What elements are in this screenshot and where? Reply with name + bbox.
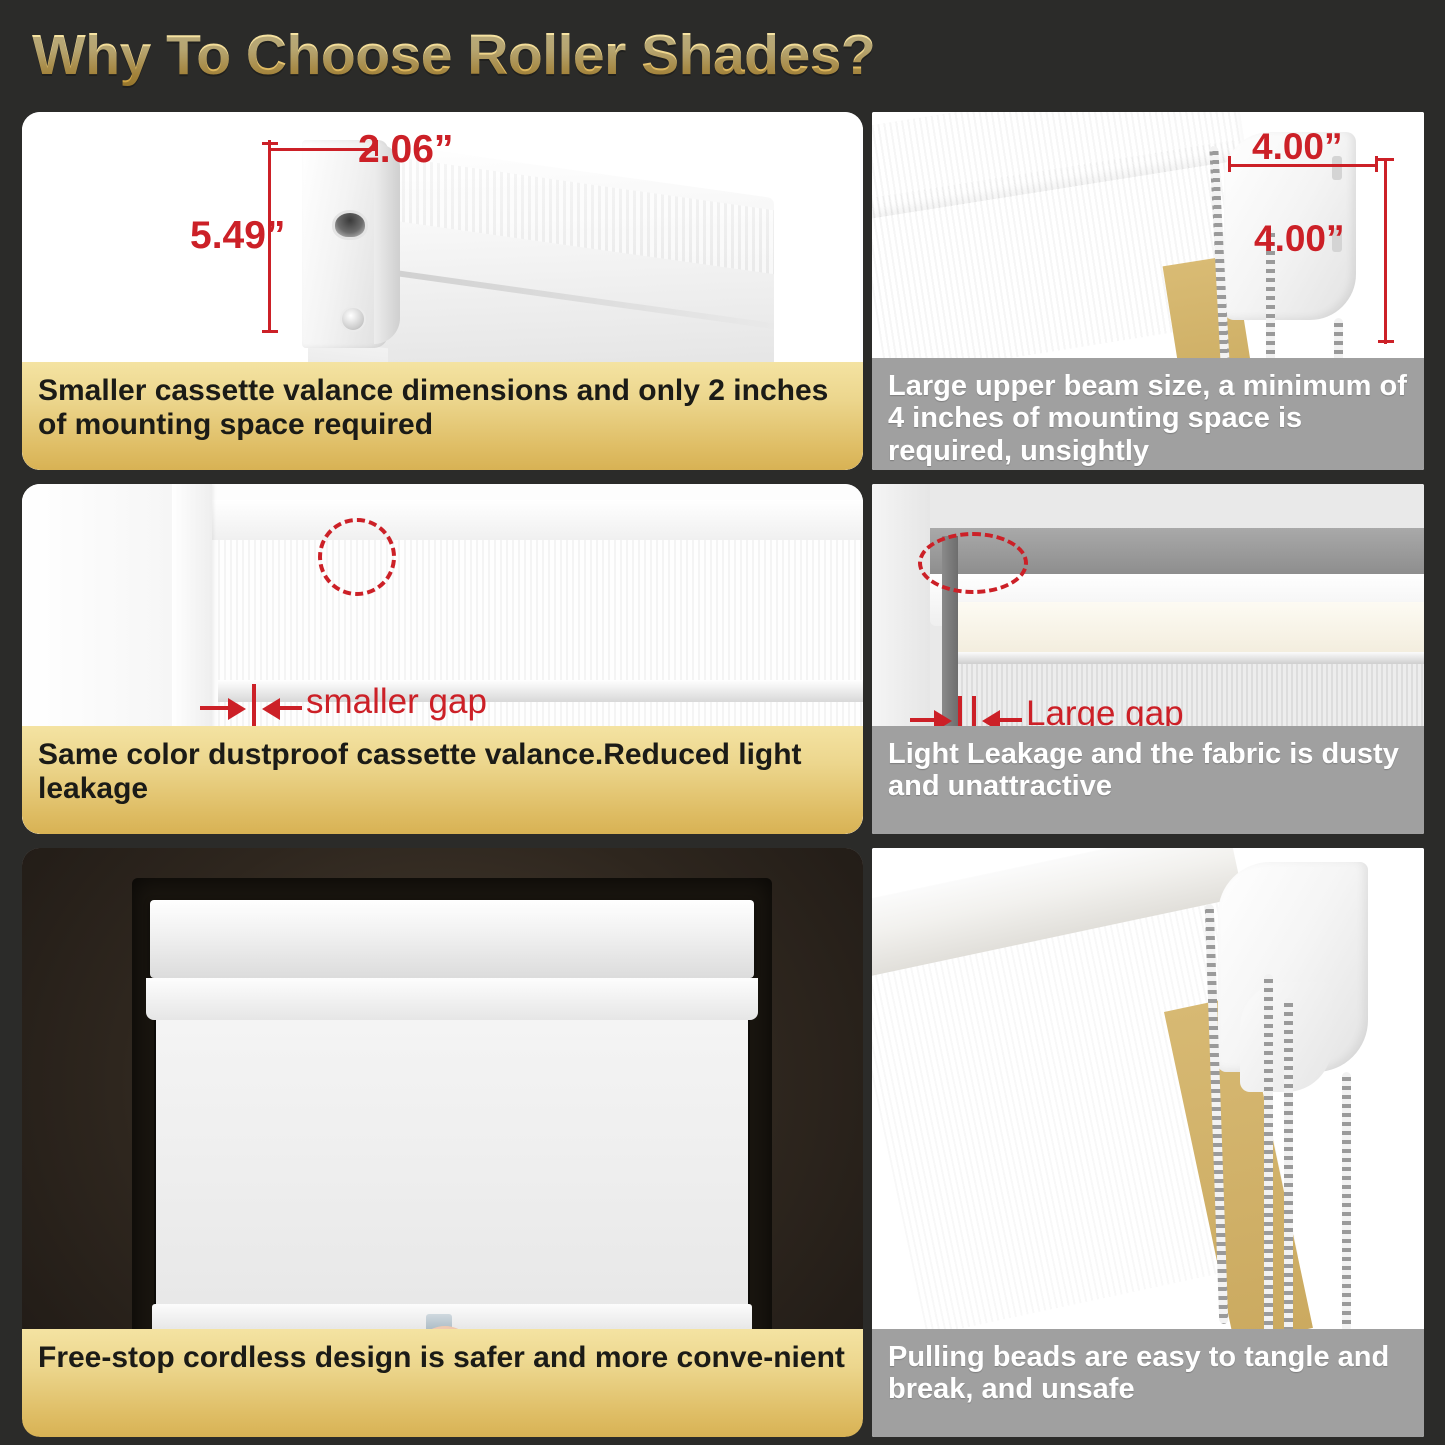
page-header: Why To Choose Roller Shades? [0,0,1445,104]
roller-shade-fabric [156,1020,748,1304]
gap-arrow-right [228,698,246,720]
cassette-valance-lip [146,978,758,1020]
height-dimension-line [1384,158,1387,344]
height-dim-tick-top [1378,158,1394,161]
width-dim-tick-left [1228,156,1231,172]
panel-pulling-beads: Pulling beads are easy to tangle and bre… [872,848,1424,1437]
valance-slot [332,210,368,240]
gap-highlight-circle [318,518,396,596]
height-dim-tick-bottom [1378,340,1394,343]
panel-caption: Pulling beads are easy to tangle and bre… [872,1329,1424,1437]
comparison-grid: 2.06” 5.49” Smaller cassette valance dim… [0,104,1445,1445]
panel-caption: Same color dustproof cassette valance.Re… [22,726,863,834]
panel-large-upper-beam: 4.00” 4.00” Large upper beam size, a min… [872,112,1424,470]
gap-label: smaller gap [306,682,487,722]
panel-caption: Free-stop cordless design is safer and m… [22,1329,863,1437]
height-dim-tick-top [262,142,278,145]
cream-fabric [956,602,1424,658]
shade-upper [218,540,863,680]
page-title: Why To Choose Roller Shades? [32,22,875,88]
gap-highlight-circle [918,532,1028,594]
width-dimension-label: 2.06” [358,128,453,172]
bead-chain-mid2 [1284,998,1293,1334]
panel-cassette-valance-dimensions: 2.06” 5.49” Smaller cassette valance dim… [22,112,863,470]
cassette-valance [150,900,754,978]
height-dimension-label: 5.49” [190,214,285,258]
height-dimension-label: 4.00” [1254,218,1345,260]
gap-marker [252,684,256,728]
panel-cordless-design: Free-stop cordless design is safer and m… [22,848,863,1437]
panel-large-gap: Large gap Light Leakage and the fabric i… [872,484,1424,834]
window-header [212,500,863,540]
shade-rail [956,652,1424,664]
height-dim-tick-bottom [262,330,278,333]
panel-smaller-gap: smaller gap Same color dustproof cassett… [22,484,863,834]
bead-chain-right [1342,1072,1351,1332]
panel-caption: Smaller cassette valance dimensions and … [22,362,863,470]
panel-caption: Large upper beam size, a minimum of 4 in… [872,358,1424,470]
valance-screw [340,306,366,332]
panel-caption: Light Leakage and the fabric is dusty an… [872,726,1424,834]
width-dimension-label: 4.00” [1252,126,1343,168]
bead-chain-mid [1264,974,1273,1334]
